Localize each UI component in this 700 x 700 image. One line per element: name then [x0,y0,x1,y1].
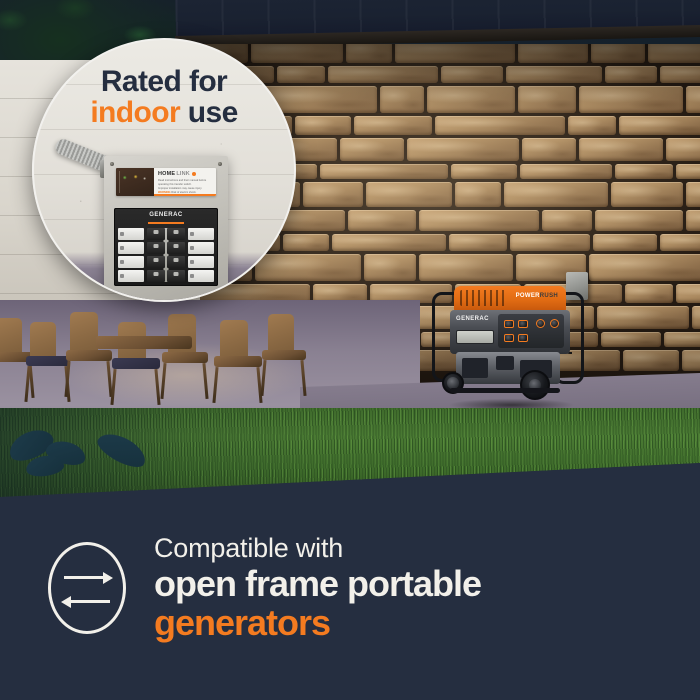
breaker-switch[interactable] [147,242,165,254]
homelink-brand-home: HOME [158,171,175,177]
bidirectional-transfer-icon [48,542,126,634]
homelink-wiring-diagram [116,168,154,196]
generator-outlet-2 [518,320,528,328]
homelink-label-text: HOMELINK Read instructions and their man… [154,168,216,196]
engine-air-filter [496,356,514,370]
breaker-switch[interactable] [147,270,165,282]
product-feature-image: POWERRUSH GENERAC [0,0,700,700]
homelink-instruction-label: HOMELINK Read instructions and their man… [116,168,216,196]
generator-hour-meter [456,330,494,344]
breaker-circuit-label-right [188,256,214,268]
patio-chair-seat [262,350,306,360]
panel-brand-logo: GENERAC [114,212,218,218]
banner-line-1: Compatible with [154,534,481,563]
breaker-grid [118,228,214,282]
transfer-icon-ring [48,542,126,634]
patio-chair-seat [66,350,112,361]
transfer-icon-arrow-left [70,600,110,603]
patio-chair-seat [26,356,70,366]
panel-screw-bottom-left [110,296,114,300]
breaker-faceplate: GENERAC [114,208,218,286]
patio-table [96,336,192,349]
transfer-switch-panel: HOMELINK Read instructions and their man… [104,156,228,302]
breaker-circuit-label-right [188,228,214,240]
indoor-use-callout-inset: Rated for indoor use HOMELINK [32,38,296,302]
panel-screw-bottom-right [218,296,222,300]
breaker-switch[interactable] [167,228,185,240]
generator-wheel-front [520,370,550,400]
breaker-switch-pair [147,242,185,254]
generator-twistlock-outlet [536,319,545,328]
generator-control-housing: GENERAC [450,310,570,354]
banner-line-2: open frame portable [154,565,481,604]
generator-breaker-2 [518,334,528,342]
homelink-label-accent-bar [154,194,216,196]
banner-headline: Compatible with open frame portable gene… [154,534,481,643]
callout-headline: Rated for indoor use [34,66,294,128]
engine-cylinder [462,358,488,378]
breaker-switch[interactable] [167,256,185,268]
banner-content: Compatible with open frame portable gene… [0,523,700,653]
headline-line-2: indoor use [34,97,294,128]
homelink-brand: HOMELINK [158,171,213,177]
headline-rest-word: use [180,96,238,129]
generator-frame-base [450,388,560,393]
homelink-brand-link: LINK [176,171,190,177]
generator-vent-slots [460,290,506,306]
generator-series-badge: POWERRUSH [516,293,558,299]
homelink-brand-dot [192,172,196,176]
homelink-fine-print: Read instructions and their manual befor… [158,179,213,195]
breaker-switch-pair [147,256,185,268]
generator-outlet-1 [504,320,514,328]
arrow-left-head [61,596,71,608]
panel-brand-accent-bar [148,222,184,224]
banner-line-3: generators [154,604,481,643]
breaker-circuit-label-left [118,242,144,254]
transfer-icon-arrow-right [64,576,104,579]
generator-outlet-panel [498,314,564,348]
breaker-switch[interactable] [167,270,185,282]
breaker-switch[interactable] [147,228,165,240]
portable-generator: POWERRUSH GENERAC [432,278,584,404]
panel-screw-top-left [110,162,114,166]
arrow-right-head [103,572,113,584]
patio-chair-seat [162,352,208,363]
breaker-switch-pair [147,228,185,240]
wiring-diagram-graphic [119,171,151,193]
breaker-circuit-label-left [118,256,144,268]
breaker-circuit-label-right [188,270,214,282]
patio-chair-seat [112,358,160,369]
breaker-switch-pair [147,270,185,282]
breaker-circuit-label-right [188,242,214,254]
breaker-circuit-label-left [118,270,144,282]
generator-brand-logo: GENERAC [456,316,489,322]
generator-rv-outlet [550,319,559,328]
headline-highlight-word: indoor [90,96,180,129]
breaker-switch[interactable] [167,242,185,254]
generator-breaker-1 [504,334,514,342]
panel-screw-top-right [218,162,222,166]
headline-line-1: Rated for [34,66,294,97]
generator-fuel-tank: POWERRUSH [454,286,566,312]
breaker-circuit-label-left [118,228,144,240]
patio-chair-seat [214,356,262,367]
breaker-switch[interactable] [147,256,165,268]
